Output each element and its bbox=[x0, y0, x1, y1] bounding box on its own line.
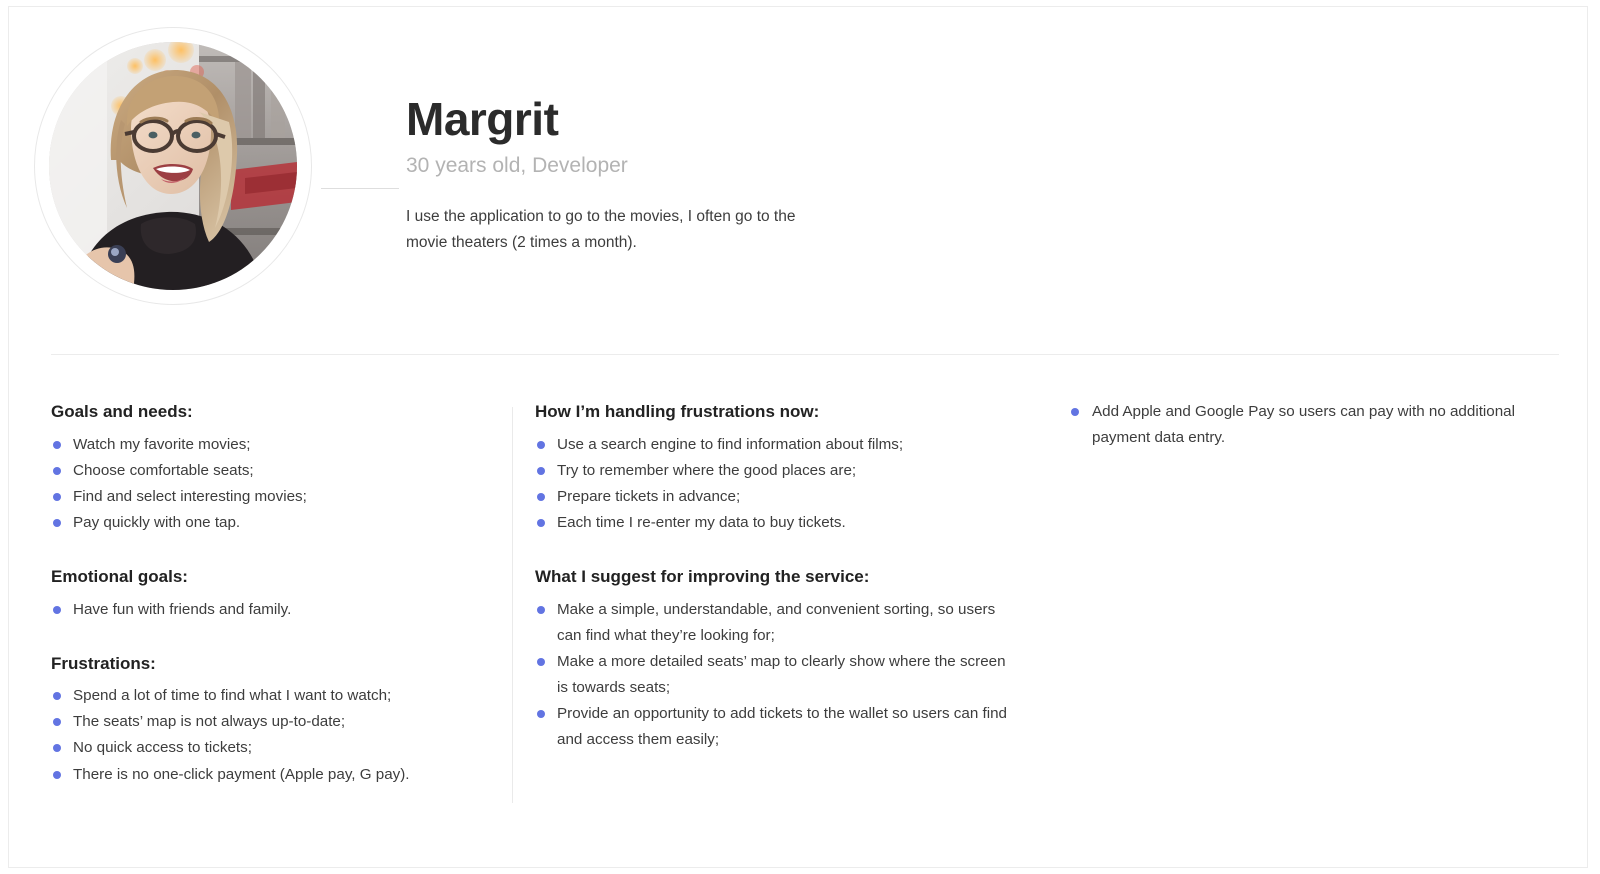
block-title: Goals and needs: bbox=[51, 399, 491, 425]
persona-identity: Margrit 30 years old, Developer I use th… bbox=[406, 95, 1106, 255]
list-item: Spend a lot of time to find what I want … bbox=[51, 683, 491, 709]
list-item: Have fun with friends and family. bbox=[51, 597, 491, 623]
column-additional-suggestions: Add Apple and Google Pay so users can pa… bbox=[1069, 399, 1529, 451]
list-item: Each time I re-enter my data to buy tick… bbox=[535, 510, 1015, 536]
content-block: How I’m handling frustrations now:Use a … bbox=[535, 399, 1015, 536]
avatar-photo bbox=[49, 42, 297, 290]
content-block: Frustrations:Spend a lot of time to find… bbox=[51, 651, 491, 788]
persona-card: Margrit 30 years old, Developer I use th… bbox=[8, 6, 1588, 868]
bullet-list: Spend a lot of time to find what I want … bbox=[51, 683, 491, 788]
content-block: What I suggest for improving the service… bbox=[535, 564, 1015, 753]
bullet-list: Have fun with friends and family. bbox=[51, 597, 491, 623]
persona-name: Margrit bbox=[406, 95, 1106, 143]
list-item: Prepare tickets in advance; bbox=[535, 484, 1015, 510]
list-item: Make a more detailed seats’ map to clear… bbox=[535, 649, 1015, 701]
persona-header: Margrit 30 years old, Developer I use th… bbox=[9, 7, 1587, 347]
list-item: No quick access to tickets; bbox=[51, 735, 491, 761]
portrait-photo-icon bbox=[49, 42, 297, 290]
bullet-list: Use a search engine to find information … bbox=[535, 432, 1015, 537]
list-item: Provide an opportunity to add tickets to… bbox=[535, 701, 1015, 753]
bullet-list: Make a simple, understandable, and conve… bbox=[535, 597, 1015, 754]
header-divider bbox=[51, 354, 1559, 355]
block-title: What I suggest for improving the service… bbox=[535, 564, 1015, 590]
bullet-list: Watch my favorite movies;Choose comforta… bbox=[51, 432, 491, 537]
block-title: How I’m handling frustrations now: bbox=[535, 399, 1015, 425]
avatar-connector-line bbox=[321, 188, 399, 189]
block-title: Emotional goals: bbox=[51, 564, 491, 590]
list-item: Make a simple, understandable, and conve… bbox=[535, 597, 1015, 649]
content-block: Add Apple and Google Pay so users can pa… bbox=[1069, 399, 1529, 451]
list-item: Try to remember where the good places ar… bbox=[535, 458, 1015, 484]
list-item: Use a search engine to find information … bbox=[535, 432, 1015, 458]
list-item: The seats’ map is not always up-to-date; bbox=[51, 709, 491, 735]
list-item: Pay quickly with one tap. bbox=[51, 510, 491, 536]
bullet-list: Add Apple and Google Pay so users can pa… bbox=[1069, 399, 1529, 451]
list-item: Add Apple and Google Pay so users can pa… bbox=[1069, 399, 1529, 451]
list-item: There is no one-click payment (Apple pay… bbox=[51, 762, 491, 788]
block-title: Frustrations: bbox=[51, 651, 491, 677]
list-item: Choose comfortable seats; bbox=[51, 458, 491, 484]
persona-quote: I use the application to go to the movie… bbox=[406, 204, 798, 254]
persona-meta: 30 years old, Developer bbox=[406, 153, 1106, 178]
avatar bbox=[34, 27, 314, 307]
list-item: Watch my favorite movies; bbox=[51, 432, 491, 458]
content-block: Goals and needs:Watch my favorite movies… bbox=[51, 399, 491, 536]
column-divider bbox=[512, 407, 513, 803]
column-goals: Goals and needs:Watch my favorite movies… bbox=[51, 399, 491, 788]
content-block: Emotional goals:Have fun with friends an… bbox=[51, 564, 491, 623]
list-item: Find and select interesting movies; bbox=[51, 484, 491, 510]
column-frustrations-handling: How I’m handling frustrations now:Use a … bbox=[535, 399, 1015, 753]
